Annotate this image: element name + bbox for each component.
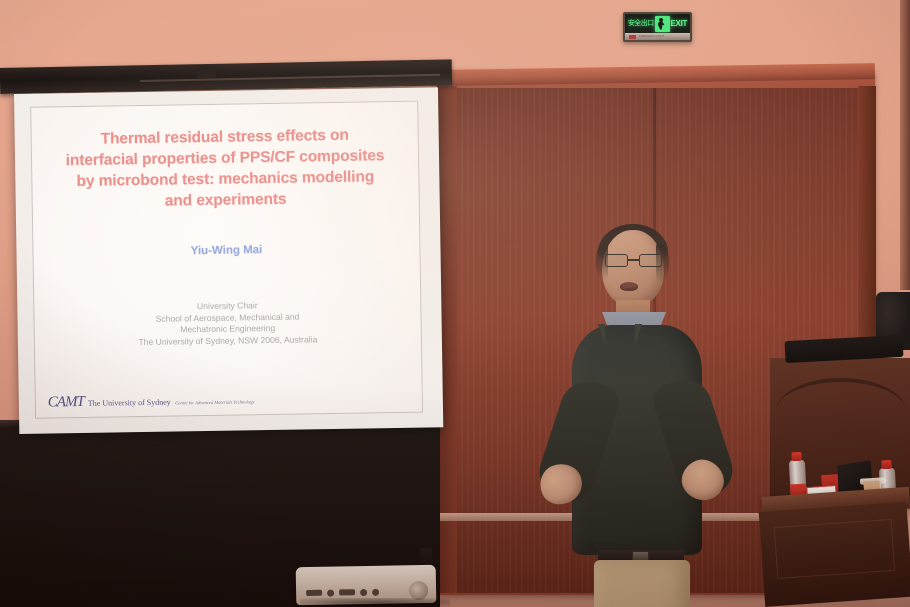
room-lighting-vignette: [0, 0, 910, 607]
lecture-hall-photo: Thermal residual stress effects on inter…: [0, 0, 910, 607]
